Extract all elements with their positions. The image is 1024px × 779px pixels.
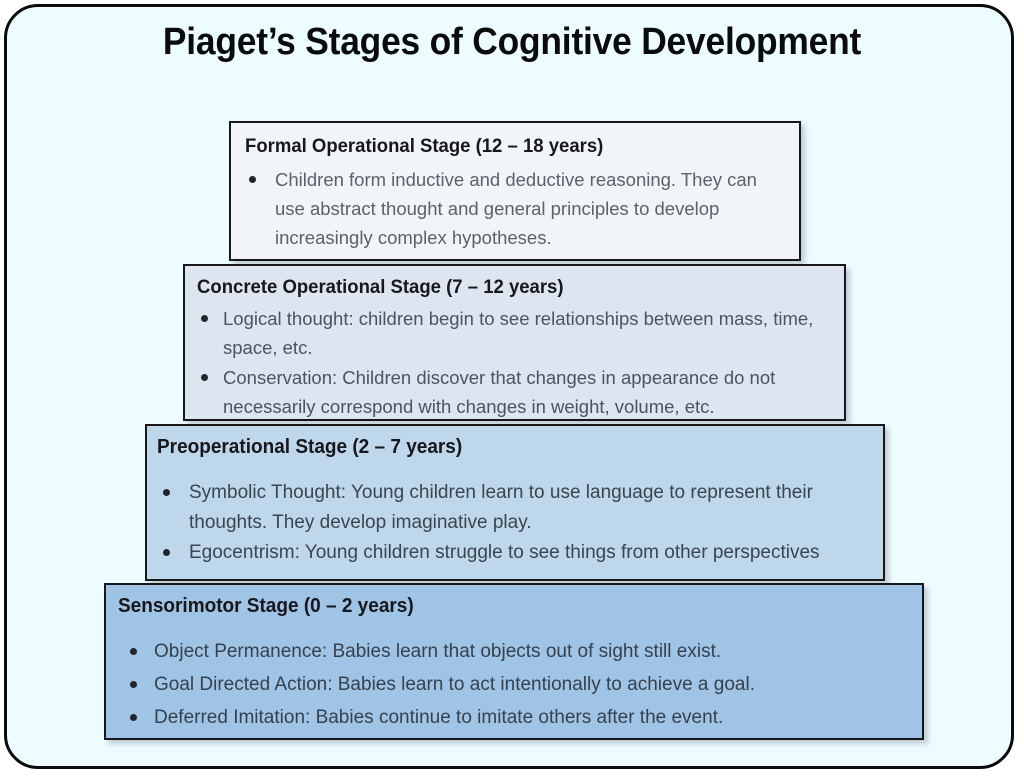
bullet-dot-icon [249, 176, 256, 183]
list-item: Object Permanence: Babies learn that obj… [126, 635, 906, 668]
stage-box-formal-operational[interactable]: Formal Operational Stage (12 – 18 years)… [229, 121, 801, 261]
bullet-list-concrete-operational: Logical thought: children begin to see r… [197, 304, 837, 422]
piaget-stage-pyramid: Formal Operational Stage (12 – 18 years)… [7, 7, 1014, 769]
bullet-list-preoperational: Symbolic Thought: Young children learn t… [159, 478, 877, 568]
list-item: Goal Directed Action: Babies learn to ac… [126, 668, 906, 701]
bullet-list-sensorimotor: Object Permanence: Babies learn that obj… [126, 635, 906, 734]
stage-box-concrete-operational[interactable]: Concrete Operational Stage (7 – 12 years… [183, 264, 846, 421]
bullet-dot-icon [130, 681, 137, 688]
bullet-dot-icon [130, 648, 137, 655]
bullet-text: Object Permanence: Babies learn that obj… [154, 635, 906, 668]
bullet-dot-icon [130, 714, 137, 721]
stage-header-concrete-operational: Concrete Operational Stage (7 – 12 years… [197, 276, 564, 299]
bullet-text: Deferred Imitation: Babies continue to i… [154, 701, 906, 734]
bullet-text: Goal Directed Action: Babies learn to ac… [154, 668, 906, 701]
bullet-text: Logical thought: children begin to see r… [223, 304, 837, 362]
list-item: Conservation: Children discover that cha… [197, 363, 837, 421]
bullet-text: Symbolic Thought: Young children learn t… [189, 478, 877, 538]
bullet-text: Conservation: Children discover that cha… [223, 363, 837, 421]
stage-box-preoperational[interactable]: Preoperational Stage (2 – 7 years) Symbo… [145, 424, 885, 581]
stage-header-sensorimotor: Sensorimotor Stage (0 – 2 years) [118, 595, 414, 618]
bullet-dot-icon [201, 374, 208, 381]
bullet-text: Egocentrism: Young children struggle to … [189, 538, 877, 568]
list-item: Egocentrism: Young children struggle to … [159, 538, 877, 568]
slide-frame: Piaget’s Stages of Cognitive Development… [4, 4, 1014, 769]
bullet-text: Children form inductive and deductive re… [275, 165, 765, 252]
stage-header-formal-operational: Formal Operational Stage (12 – 18 years) [245, 135, 603, 158]
bullet-list-formal-operational: Children form inductive and deductive re… [245, 165, 765, 252]
list-item: Logical thought: children begin to see r… [197, 304, 837, 362]
bullet-dot-icon [163, 489, 170, 496]
bullet-dot-icon [163, 549, 170, 556]
bullet-dot-icon [201, 315, 208, 322]
list-item: Symbolic Thought: Young children learn t… [159, 478, 877, 538]
list-item: Deferred Imitation: Babies continue to i… [126, 701, 906, 734]
stage-box-sensorimotor[interactable]: Sensorimotor Stage (0 – 2 years) Object … [104, 583, 924, 740]
stage-header-preoperational: Preoperational Stage (2 – 7 years) [157, 436, 462, 459]
list-item: Children form inductive and deductive re… [245, 165, 765, 252]
